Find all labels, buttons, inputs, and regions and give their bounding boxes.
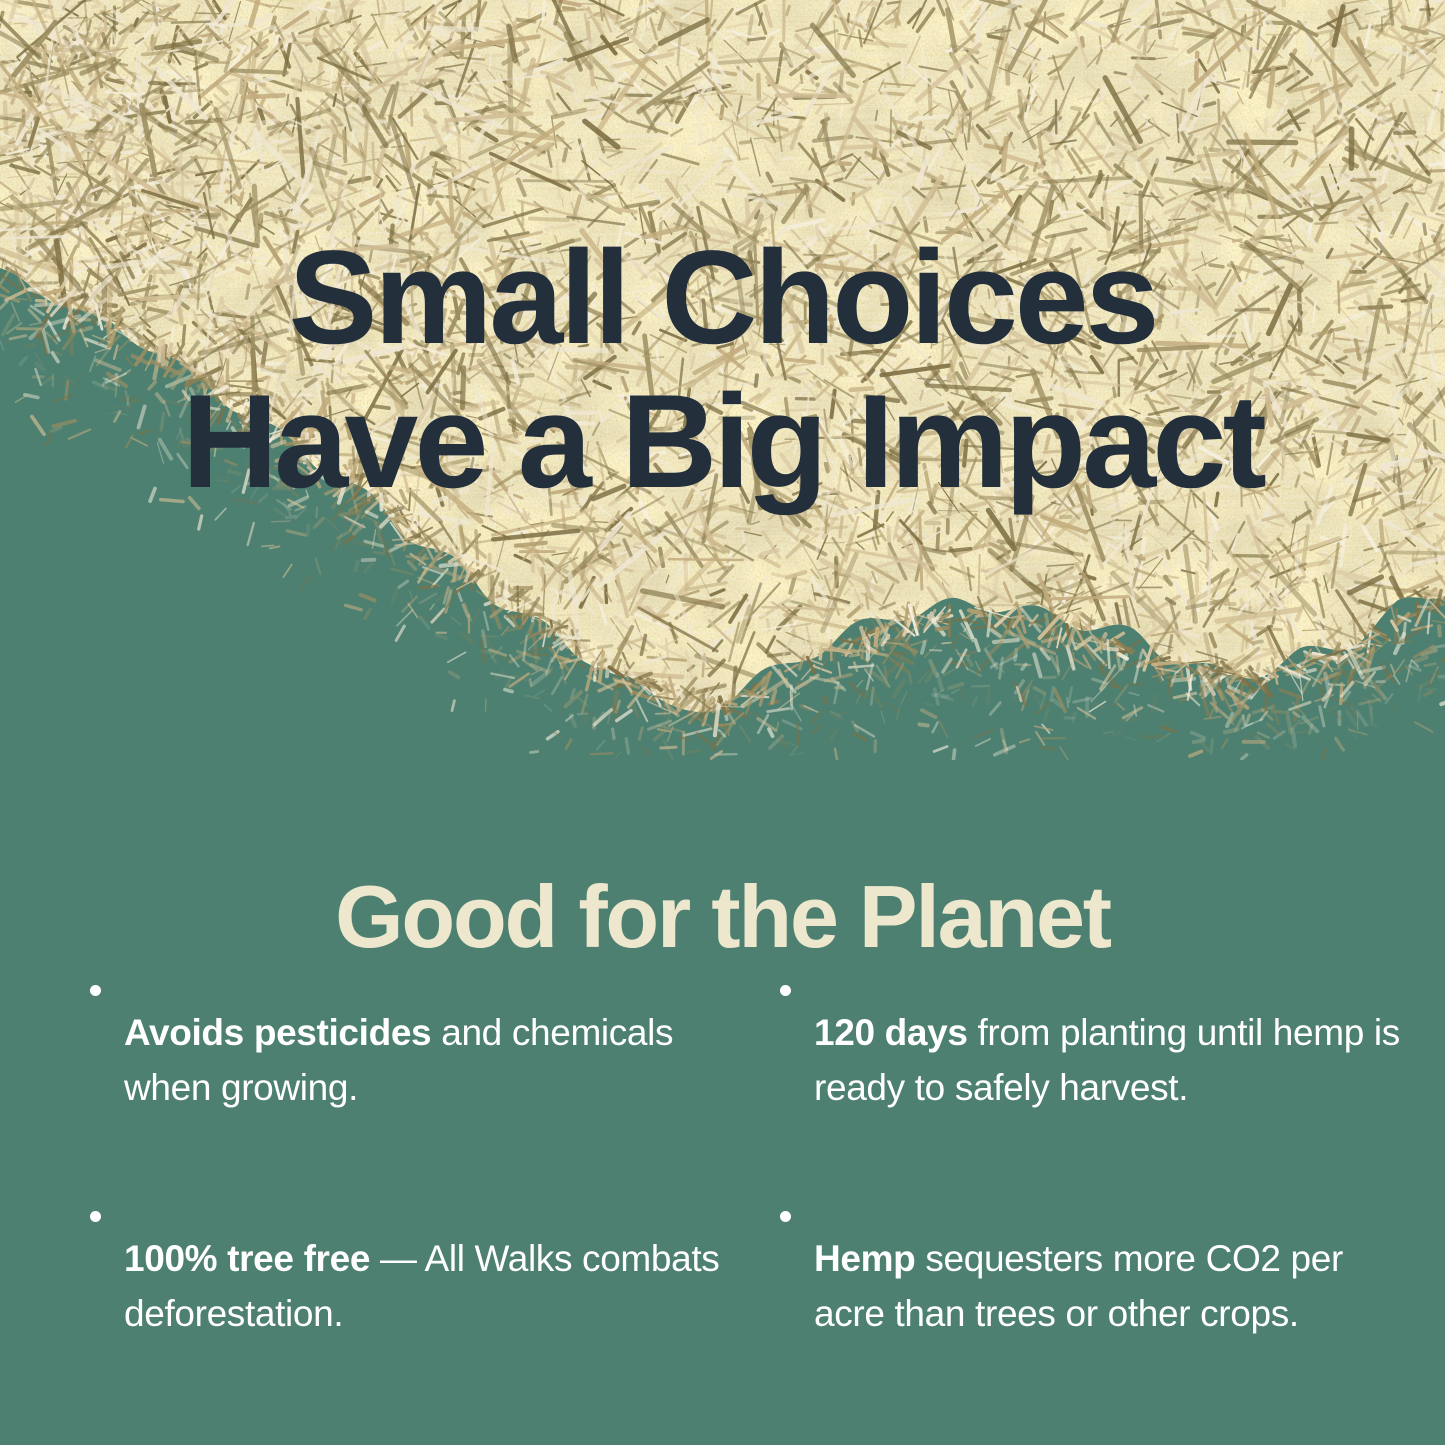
section-subheading: Good for the Planet: [0, 867, 1445, 967]
benefit-text: Avoids pesticides and chemicals when gro…: [124, 1005, 728, 1115]
benefit-item-pesticides: Avoids pesticides and chemicals when gro…: [78, 968, 768, 1194]
benefit-item-harvest-time: 120 days from planting until hemp is rea…: [768, 968, 1445, 1194]
bullet-dot-icon: [90, 985, 101, 996]
poster-root: Small Choices Have a Big Impact Good for…: [0, 0, 1445, 1445]
benefit-text: 100% tree free — All Walks combats defor…: [124, 1231, 728, 1341]
hemp-texture-image: [0, 0, 1445, 760]
bullet-dot-icon: [780, 1211, 791, 1222]
benefit-lead: 120 days: [814, 1012, 968, 1053]
benefit-item-tree-free: 100% tree free — All Walks combats defor…: [78, 1194, 768, 1398]
headline-line-1: Small Choices: [0, 226, 1445, 370]
benefits-list: Avoids pesticides and chemicals when gro…: [0, 968, 1445, 1398]
page-title: Small Choices Have a Big Impact: [0, 226, 1445, 514]
benefit-text: 120 days from planting until hemp is rea…: [814, 1005, 1418, 1115]
bullet-dot-icon: [780, 985, 791, 996]
benefit-text: Hemp sequesters more CO2 per acre than t…: [814, 1231, 1418, 1341]
headline-line-2: Have a Big Impact: [0, 370, 1445, 514]
bullet-dot-icon: [90, 1211, 101, 1222]
benefit-lead: Hemp: [814, 1238, 915, 1279]
benefit-lead: 100% tree free: [124, 1238, 370, 1279]
benefit-item-carbon-sequestration: Hemp sequesters more CO2 per acre than t…: [768, 1194, 1445, 1398]
benefit-lead: Avoids pesticides: [124, 1012, 431, 1053]
